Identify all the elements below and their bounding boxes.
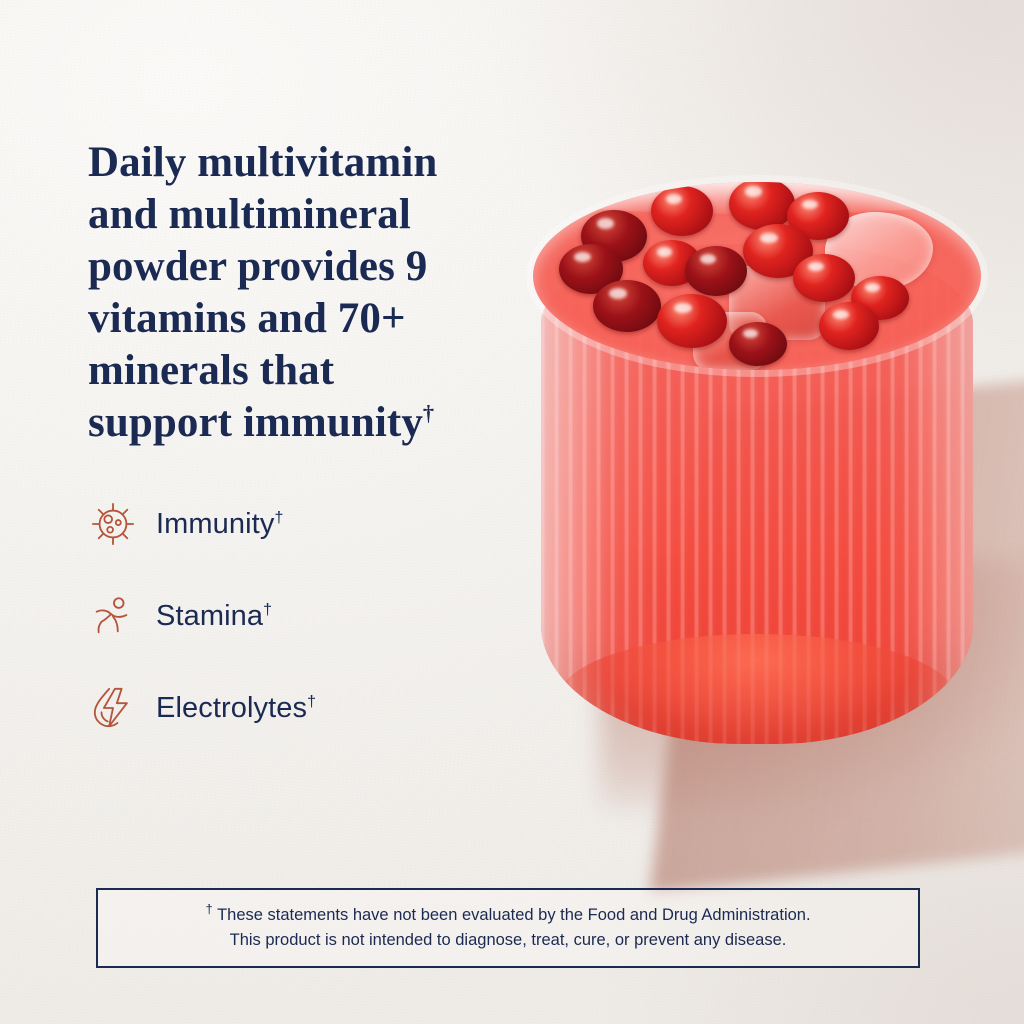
benefit-label-immunity: Immunity†	[156, 508, 283, 541]
disclaimer-dagger: †	[205, 902, 212, 917]
benefit-label-stamina: Stamina†	[156, 600, 272, 633]
cranberry	[729, 182, 795, 230]
benefit-item-electrolytes: Electrolytes†	[88, 662, 508, 754]
cranberry	[657, 294, 727, 348]
benefits-list: Immunity† Stamina†	[88, 478, 508, 754]
cranberry	[685, 246, 747, 296]
running-person-icon	[88, 591, 138, 641]
headline-text: Daily multivitamin and multimineral powd…	[88, 139, 437, 446]
fda-disclaimer-text: † These statements have not been evaluat…	[205, 903, 810, 953]
cranberry	[819, 302, 879, 350]
drink-surface	[533, 182, 981, 370]
fda-disclaimer-box: † These statements have not been evaluat…	[96, 888, 920, 968]
cranberry	[593, 280, 661, 332]
cranberry	[651, 186, 713, 236]
headline-dagger: †	[423, 400, 434, 425]
cranberry	[793, 254, 855, 302]
product-photo-glass	[533, 182, 981, 762]
benefit-label-electrolytes: Electrolytes†	[156, 692, 316, 725]
headline: Daily multivitamin and multimineral powd…	[88, 137, 518, 449]
product-marketing-image: Daily multivitamin and multimineral powd…	[0, 0, 1024, 1024]
benefit-item-stamina: Stamina†	[88, 570, 508, 662]
cranberry	[729, 322, 787, 366]
virus-cell-icon	[88, 499, 138, 549]
benefit-item-immunity: Immunity†	[88, 478, 508, 570]
droplet-lightning-bolt-icon	[88, 683, 138, 733]
